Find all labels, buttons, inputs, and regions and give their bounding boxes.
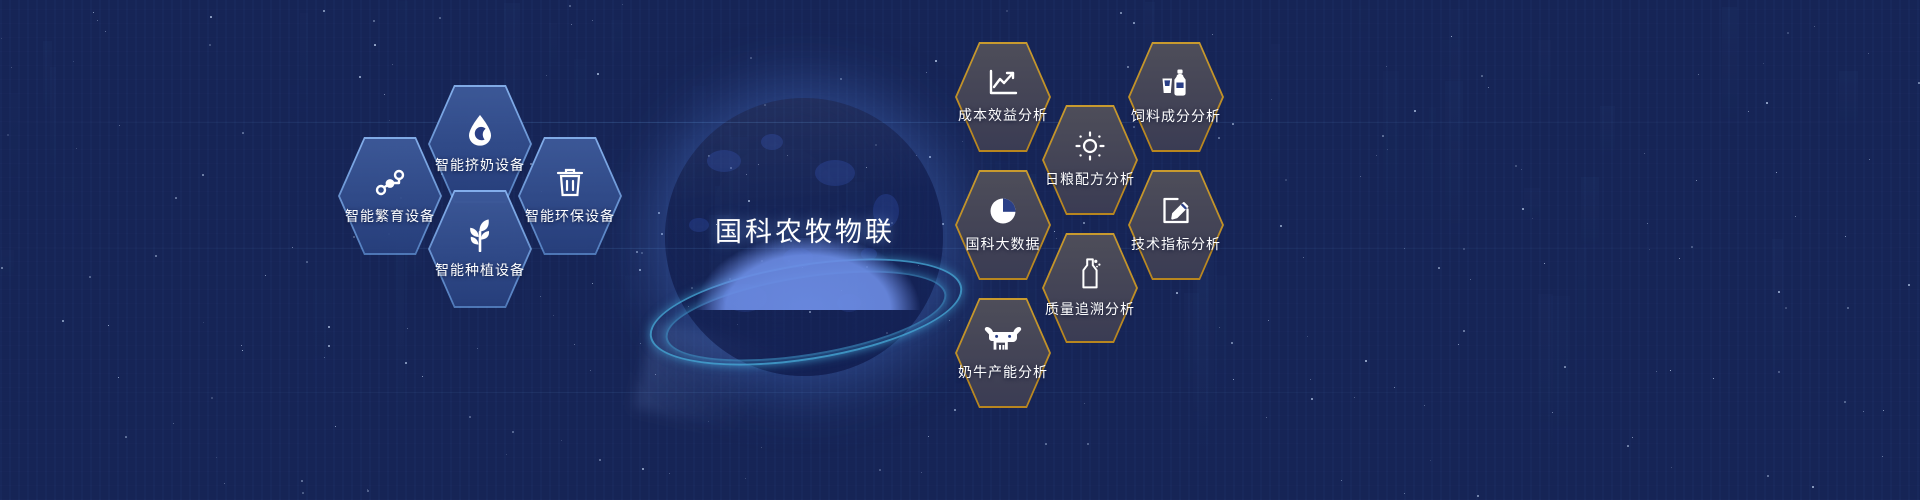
milk-drop-icon (465, 113, 495, 147)
hex-label: 成本效益分析 (958, 105, 1048, 125)
trash-bin-icon (555, 166, 585, 198)
hex-breeding[interactable]: 智能繁育设备 (338, 137, 442, 255)
hex-content: 智能种植设备 (435, 218, 525, 280)
bottle-icon (1077, 257, 1103, 291)
cow-icon (983, 324, 1023, 354)
hex-content: 技术指标分析 (1131, 196, 1221, 254)
hex-label: 智能环保设备 (525, 206, 615, 226)
hex-label: 智能繁育设备 (345, 206, 435, 226)
hex-content: 智能繁育设备 (345, 166, 435, 226)
line-chart-icon (988, 69, 1018, 97)
banner-stage: 国科农牧物联 智能繁育设备 (0, 0, 1920, 500)
hex-milking[interactable]: 智能挤奶设备 (428, 85, 532, 203)
network-nodes-icon (374, 166, 406, 198)
pie-chart-icon (988, 196, 1018, 226)
hex-label: 智能种植设备 (435, 260, 525, 280)
hex-label: 奶牛产能分析 (958, 362, 1048, 382)
page-title: 国科农牧物联 (640, 210, 970, 249)
hex-traceability[interactable]: 质量追溯分析 (1042, 233, 1138, 343)
milk-bottle-cup-icon (1160, 68, 1192, 98)
hex-content: 智能环保设备 (525, 166, 615, 226)
hex-content: 国科大数据 (966, 196, 1041, 254)
hex-cost-benefit[interactable]: 成本效益分析 (955, 42, 1051, 152)
edit-square-icon (1161, 196, 1191, 226)
hex-label: 国科大数据 (966, 234, 1041, 254)
hex-planting[interactable]: 智能种植设备 (428, 190, 532, 308)
hex-bigdata[interactable]: 国科大数据 (955, 170, 1051, 280)
hex-label: 质量追溯分析 (1045, 299, 1135, 319)
hex-tech-index[interactable]: 技术指标分析 (1128, 170, 1224, 280)
hex-cow-capacity[interactable]: 奶牛产能分析 (955, 298, 1051, 408)
hex-content: 智能挤奶设备 (435, 113, 525, 175)
hex-content: 成本效益分析 (958, 69, 1048, 125)
hex-content: 质量追溯分析 (1045, 257, 1135, 319)
hex-feed[interactable]: 饲料成分分析 (1128, 42, 1224, 152)
plant-sprout-icon (464, 218, 496, 252)
hex-content: 日粮配方分析 (1045, 131, 1135, 189)
hex-label: 技术指标分析 (1131, 234, 1221, 254)
hex-content: 饲料成分分析 (1131, 68, 1221, 126)
sun-icon (1075, 131, 1105, 161)
planet-group: 国科农牧物联 (640, 88, 970, 388)
hex-content: 奶牛产能分析 (958, 324, 1048, 382)
hex-label: 智能挤奶设备 (435, 155, 525, 175)
hex-label: 饲料成分分析 (1131, 106, 1221, 126)
hex-label: 日粮配方分析 (1045, 169, 1135, 189)
hex-ration[interactable]: 日粮配方分析 (1042, 105, 1138, 215)
hex-environment[interactable]: 智能环保设备 (518, 137, 622, 255)
